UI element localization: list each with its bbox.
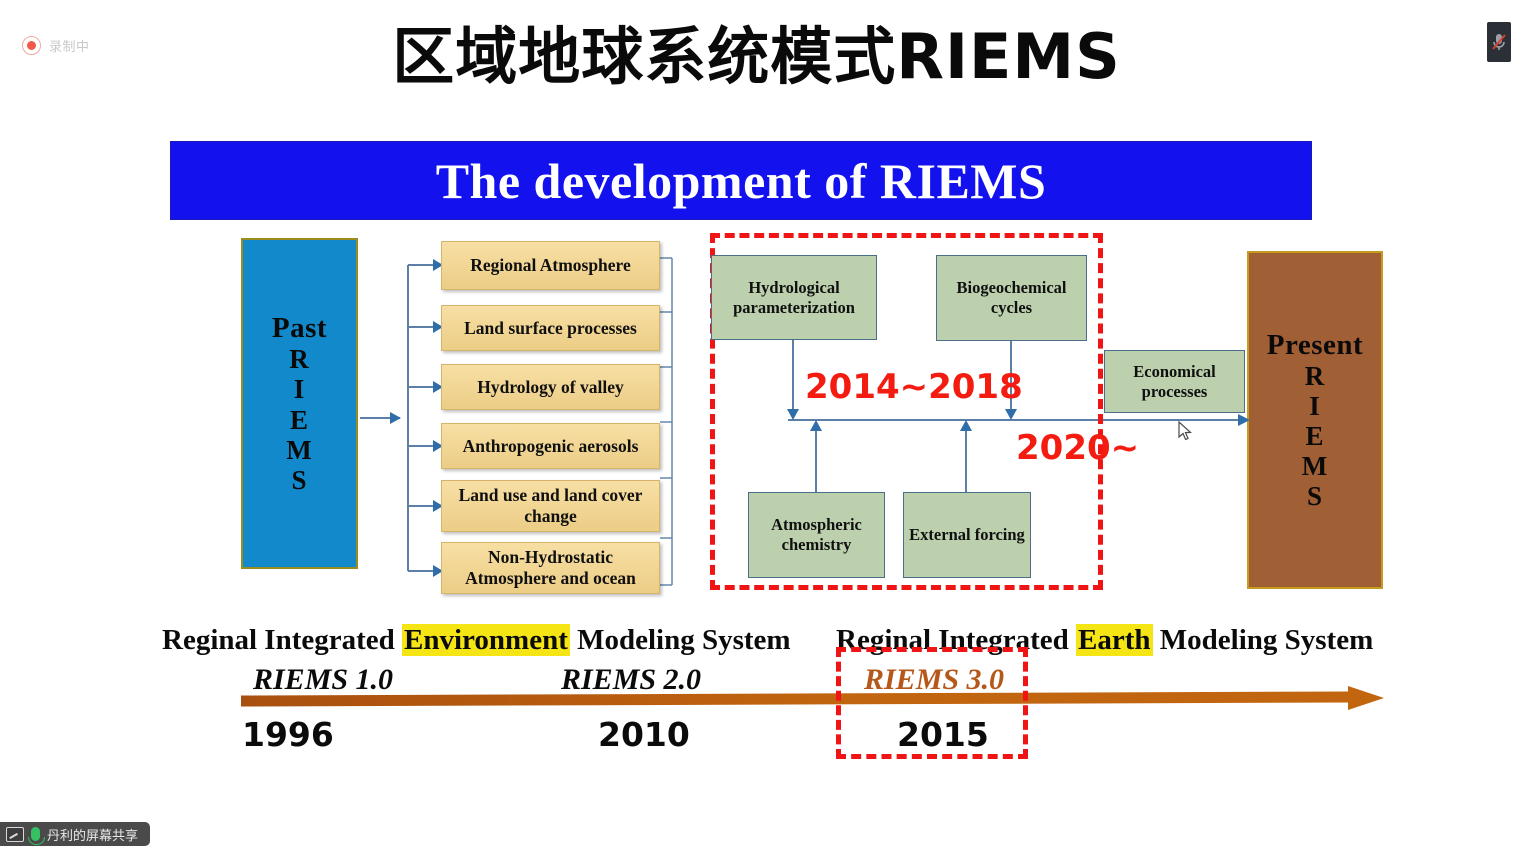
year-label-2015: 2015 [897, 715, 989, 754]
slide-canvas: 录制中 区域地球系统模式RIEMS The development of RIE… [0, 0, 1513, 850]
year-label-2010: 2010 [598, 715, 690, 754]
screen-share-label: 丹利的屏幕共享 [47, 825, 138, 844]
microphone-active-icon [31, 827, 40, 841]
screen-share-icon [6, 827, 24, 842]
screen-share-status-bar[interactable]: 丹利的屏幕共享 [0, 822, 150, 846]
year-label-1996: 1996 [242, 715, 334, 754]
timeline-arrow [0, 0, 1513, 850]
